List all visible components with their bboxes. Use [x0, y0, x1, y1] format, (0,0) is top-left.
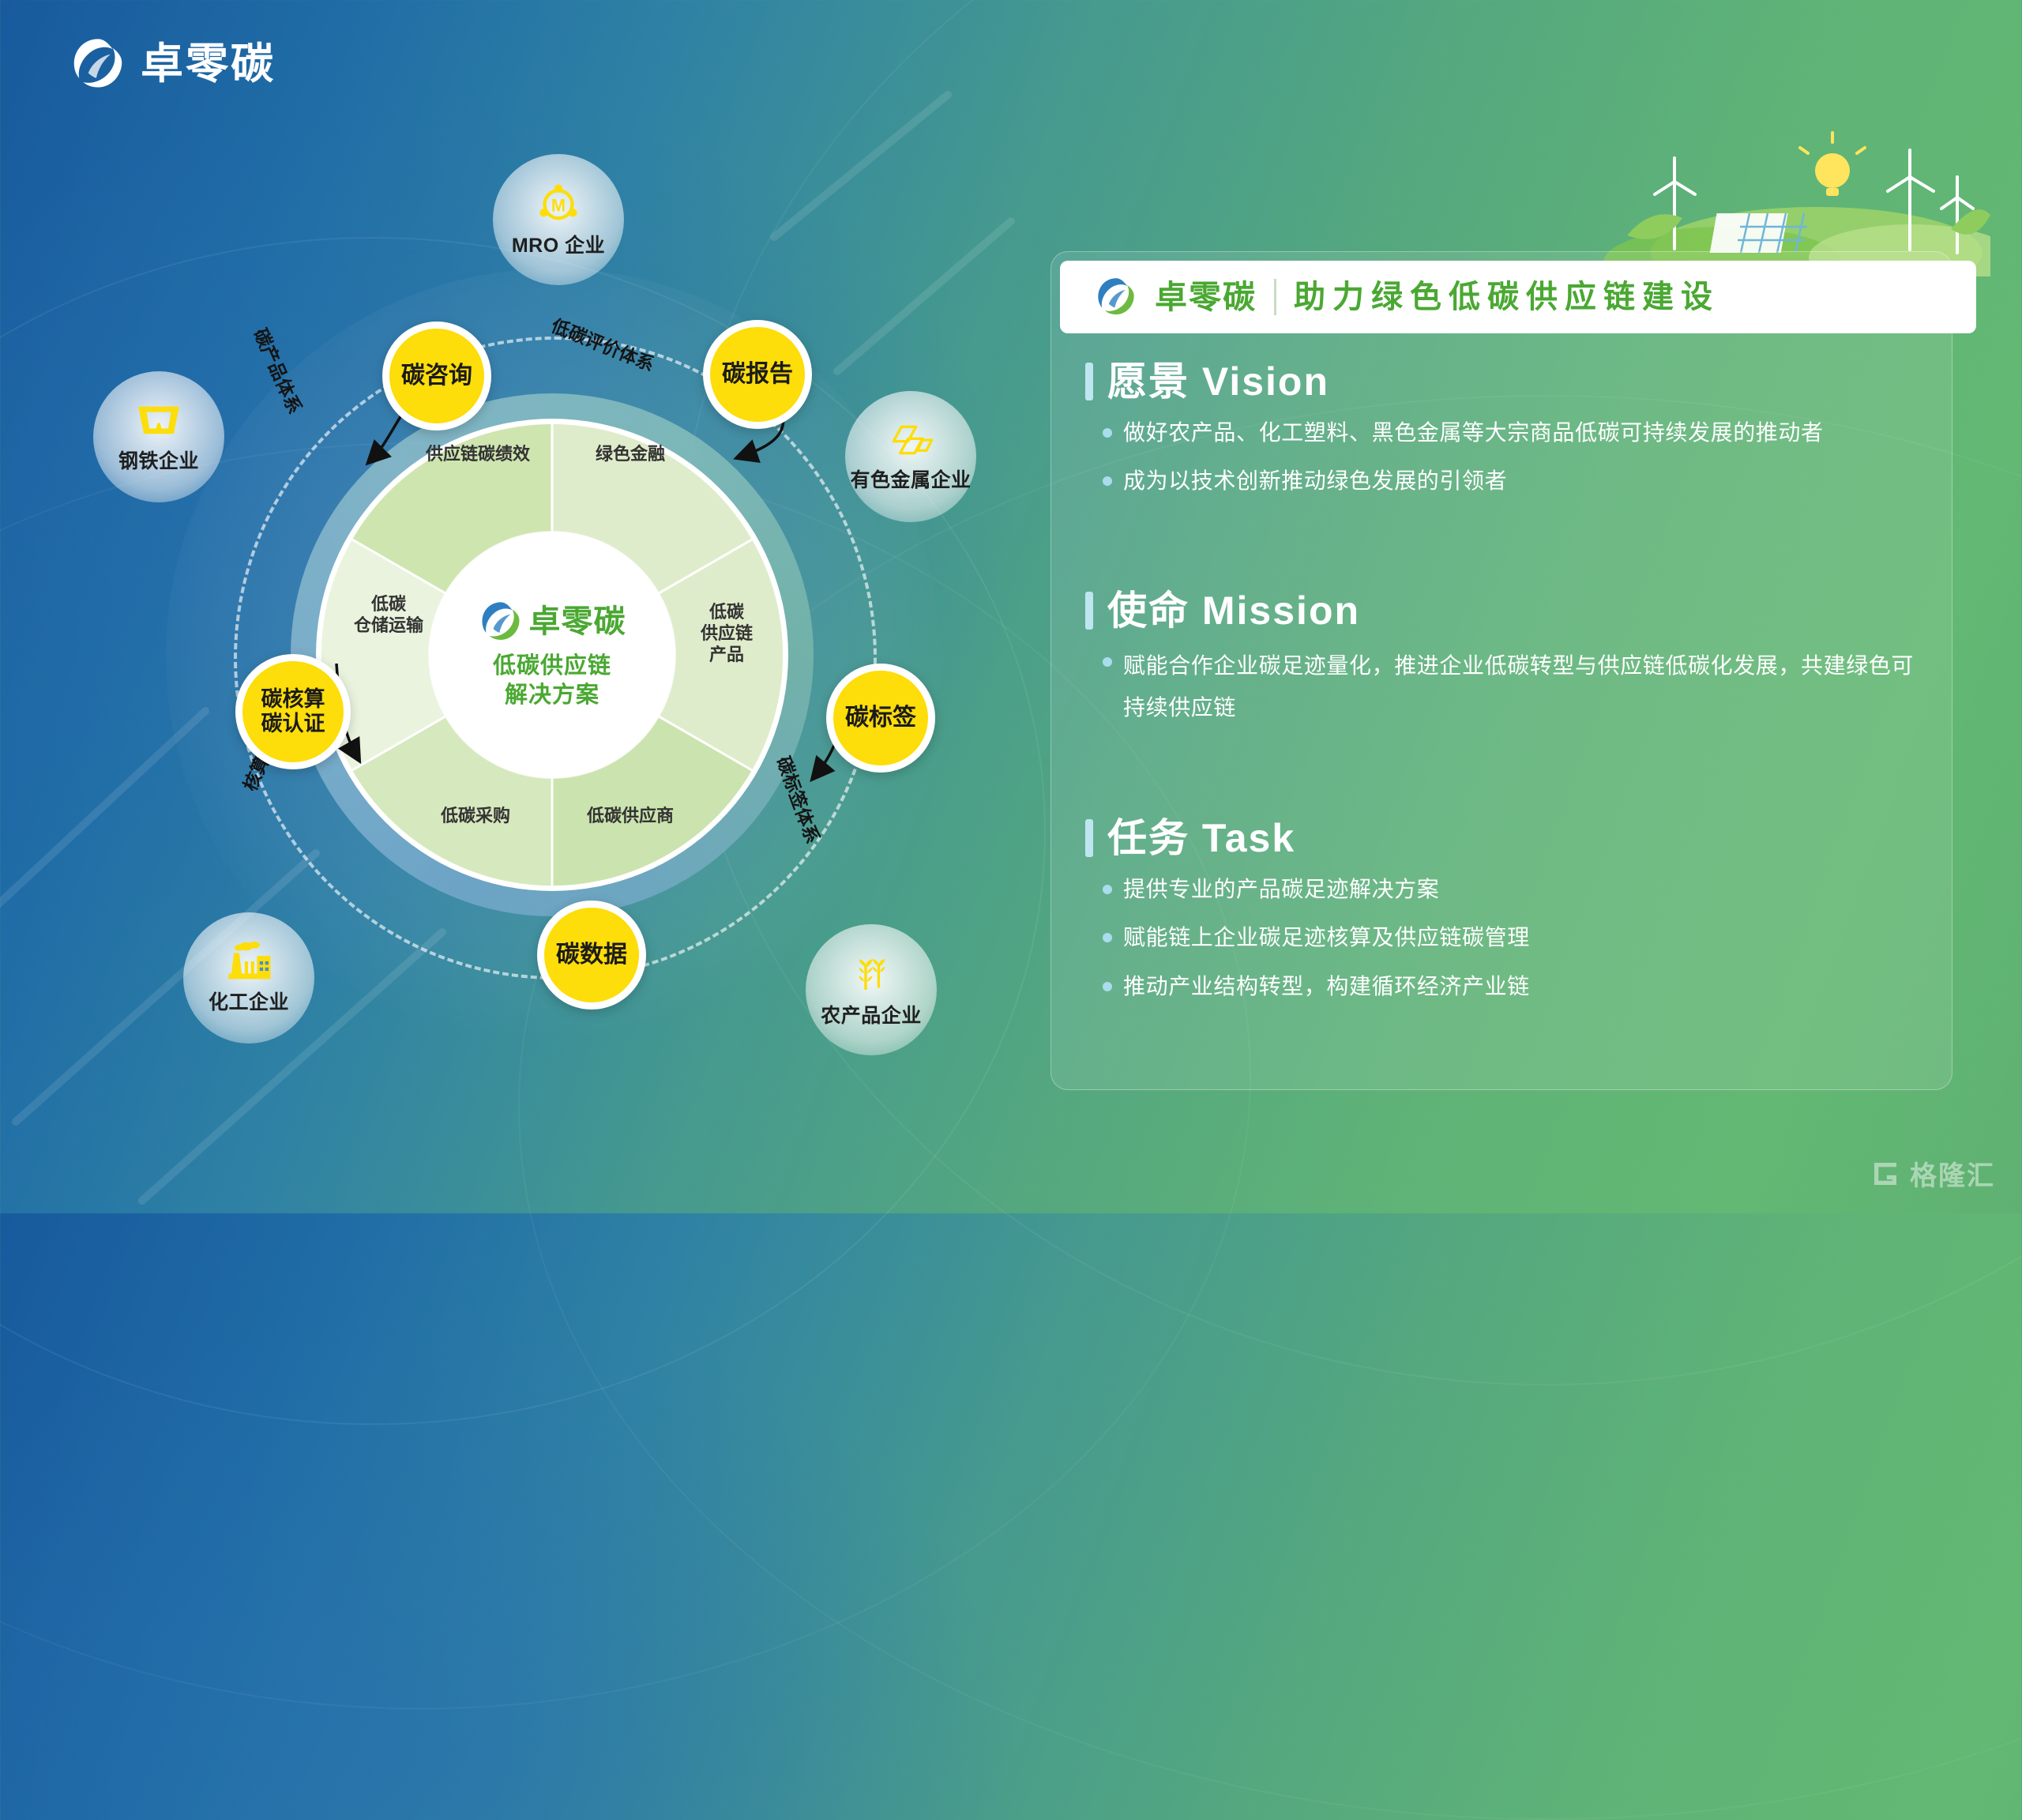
industry-node-chemical[interactable]: 化工企业	[183, 912, 314, 1043]
leaf-circle-logo-icon	[70, 36, 126, 92]
bullet-dot-icon	[1103, 885, 1112, 894]
watermark: 格隆汇	[1869, 1154, 1995, 1193]
bullet-item: 推动产业结构转型，构建循环经济产业链	[1103, 969, 1922, 1003]
section-title-vision: 愿景 Vision	[1085, 362, 1922, 401]
panel-header-brand: 卓零碳	[1155, 281, 1257, 314]
industry-node-steel[interactable]: 钢铁企业	[93, 371, 224, 502]
bullet-item: 做好农产品、化工塑料、黑色金属等大宗商品低碳可持续发展的推动者	[1103, 416, 1922, 449]
bullet-item: 赋能合作企业碳足迹量化，推进企业低碳转型与供应链低碳化发展，共建绿色可持续供应链	[1103, 645, 1922, 728]
service-node-carbon-report[interactable]: 碳报告	[703, 320, 812, 429]
industry-node-agriculture[interactable]: 农产品企业	[806, 924, 937, 1055]
section-title-text-task: 任务 Task	[1107, 818, 1295, 858]
section-title-task: 任务 Task	[1085, 818, 1922, 858]
panel-header-tagline: 助力绿色低碳供应链建设	[1294, 281, 1719, 313]
bullet-text: 成为以技术创新推动绿色发展的引领者	[1123, 464, 1507, 498]
bullet-dot-icon	[1103, 428, 1112, 438]
section-title-text-mission: 使命 Mission	[1107, 591, 1360, 630]
supply-chain-diagram: 供应链碳绩效 绿色金融 低碳 供应链 产品 低碳供应商 低碳采购 低碳 仓储运输…	[79, 111, 1011, 1106]
svg-text:M: M	[551, 196, 566, 216]
app-logo-text: 卓零碳	[141, 43, 276, 85]
service-node-carbon-data[interactable]: 碳数据	[537, 901, 646, 1010]
service-node-carbon-label[interactable]: 碳标签	[826, 664, 935, 773]
industry-label-agriculture: 农产品企业	[821, 1000, 922, 1028]
gelonghui-logo-icon	[1869, 1157, 1902, 1190]
service-node-carbon-accounting-certification[interactable]: 碳核算 碳认证	[235, 654, 351, 769]
service-node-carbon-consulting[interactable]: 碳咨询	[382, 322, 491, 431]
factory-icon	[224, 941, 273, 982]
bullet-text: 做好农产品、化工塑料、黑色金属等大宗商品低碳可持续发展的推动者	[1123, 416, 1824, 449]
section-accent-bar	[1085, 819, 1093, 857]
mro-badge-icon: M	[536, 181, 581, 225]
industry-label-mro: MRO 企业	[512, 230, 605, 258]
section-accent-bar	[1085, 592, 1093, 630]
industry-node-mro[interactable]: M MRO 企业	[493, 154, 624, 285]
bullet-item: 成为以技术创新推动绿色发展的引领者	[1103, 464, 1922, 498]
section-title-mission: 使命 Mission	[1085, 591, 1922, 630]
bullet-dot-icon	[1103, 657, 1112, 667]
bullet-dot-icon	[1103, 476, 1112, 486]
panel-header-divider	[1274, 279, 1276, 315]
bullet-dot-icon	[1103, 982, 1112, 991]
section-title-text-vision: 愿景 Vision	[1107, 362, 1329, 401]
industry-label-chemical: 化工企业	[209, 987, 289, 1015]
bullet-item: 赋能链上企业碳足迹核算及供应链碳管理	[1103, 920, 1922, 954]
eco-illustration	[1580, 95, 1990, 276]
steel-ladle-icon	[134, 400, 183, 441]
bullet-item: 提供专业的产品碳足迹解决方案	[1103, 872, 1922, 906]
leaf-circle-logo-icon	[1095, 276, 1137, 318]
section-mission: 使命 Mission 赋能合作企业碳足迹量化，推进企业低碳转型与供应链低碳化发展…	[1085, 591, 1922, 728]
bullet-text: 赋能合作企业碳足迹量化，推进企业低碳转型与供应链低碳化发展，共建绿色可持续供应链	[1123, 645, 1922, 728]
industry-label-steel: 钢铁企业	[118, 446, 199, 474]
bullet-text: 赋能链上企业碳足迹核算及供应链碳管理	[1123, 920, 1530, 954]
section-task: 任务 Task 提供专业的产品碳足迹解决方案 赋能链上企业碳足迹核算及供应链碳管…	[1085, 818, 1922, 1003]
watermark-text: 格隆汇	[1910, 1154, 1995, 1193]
bullet-dot-icon	[1103, 933, 1112, 942]
industry-label-nonferrous-metal: 有色金属企业	[850, 464, 971, 493]
panel-header: 卓零碳 助力绿色低碳供应链建设	[1060, 261, 1976, 333]
metal-ingots-icon	[887, 420, 934, 460]
bullet-text: 提供专业的产品碳足迹解决方案	[1123, 872, 1439, 906]
wheat-icon	[849, 951, 893, 995]
bullet-text: 推动产业结构转型，构建循环经济产业链	[1123, 969, 1530, 1003]
app-logo: 卓零碳	[70, 36, 276, 92]
section-accent-bar	[1085, 363, 1093, 400]
industry-node-nonferrous-metal[interactable]: 有色金属企业	[845, 391, 976, 522]
section-vision: 愿景 Vision 做好农产品、化工塑料、黑色金属等大宗商品低碳可持续发展的推动…	[1085, 362, 1922, 498]
